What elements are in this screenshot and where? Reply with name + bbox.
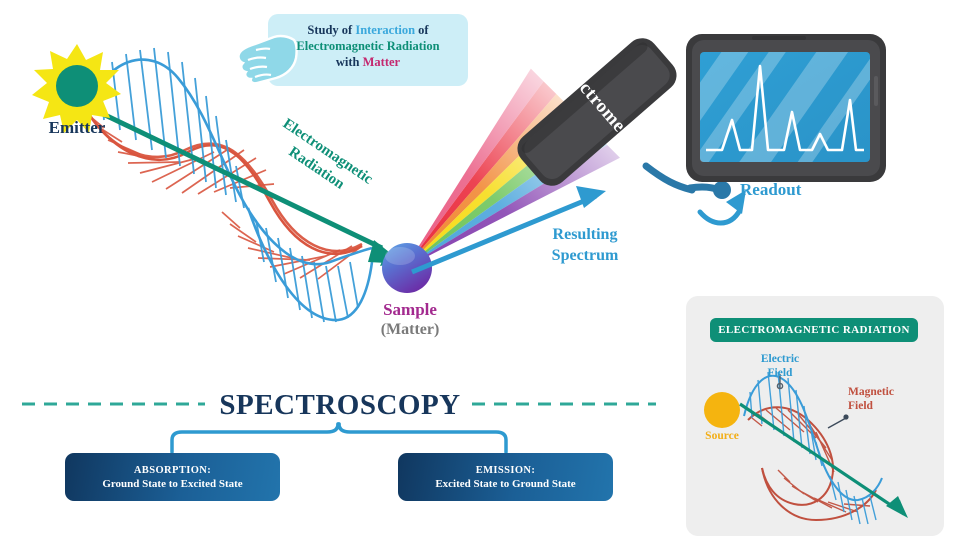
- absorption-detail: Ground State to Excited State: [65, 478, 280, 490]
- source-label: Source: [690, 430, 754, 442]
- brace-connector: [172, 424, 506, 452]
- callout-line3-a: with: [336, 55, 363, 69]
- magnetic-field-label: Magnetic Field: [848, 385, 932, 413]
- absorption-box[interactable]: ABSORPTION: Ground State to Excited Stat…: [65, 453, 280, 501]
- magnetic-field-line1: Magnetic: [848, 385, 932, 399]
- callout-line1-b: Interaction: [355, 23, 415, 37]
- callout-text: Study of Interaction of Electromagnetic …: [268, 22, 468, 70]
- electric-field-line1: Electric: [735, 352, 825, 366]
- emission-detail: Excited State to Ground State: [398, 478, 613, 490]
- spectrum-label-line2: Spectrum: [520, 245, 650, 266]
- sample-sublabel: (Matter): [350, 321, 470, 339]
- magnetic-field-line2: Field: [848, 399, 932, 413]
- electric-field-label: Electric Field: [735, 352, 825, 380]
- emission-heading: EMISSION:: [398, 465, 613, 476]
- inset-badge-label: ELECTROMAGNETIC RADIATION: [718, 324, 910, 336]
- emission-box[interactable]: EMISSION: Excited State to Ground State: [398, 453, 613, 501]
- resulting-spectrum-label: Resulting Spectrum: [520, 224, 650, 266]
- callout-line3-b: Matter: [363, 55, 400, 69]
- callout-line1-c: of: [415, 23, 429, 37]
- spectrum-label-line1: Resulting: [520, 224, 650, 245]
- infographic-canvas: Study of Interaction of Electromagnetic …: [0, 0, 960, 540]
- callout-line1-a: Study of: [307, 23, 355, 37]
- readout-label: Readout: [740, 180, 860, 200]
- sample-label: Sample: [350, 300, 470, 320]
- electric-field-line2: Field: [735, 366, 825, 380]
- emitter-label: Emitter: [22, 118, 132, 138]
- callout-line2: Electromagnetic Radiation: [268, 38, 468, 54]
- spectroscopy-title: SPECTROSCOPY: [215, 389, 465, 422]
- absorption-heading: ABSORPTION:: [65, 465, 280, 476]
- inset-badge: ELECTROMAGNETIC RADIATION: [710, 318, 918, 342]
